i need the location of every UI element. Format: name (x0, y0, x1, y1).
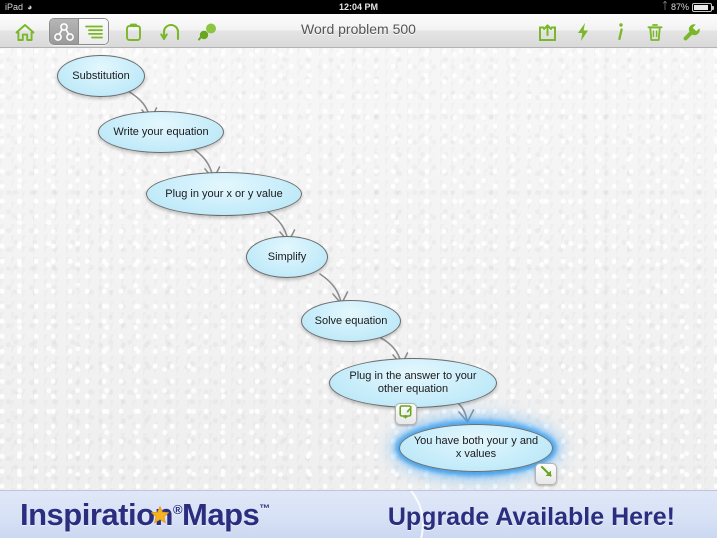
status-bar: iPad ◕ 12:04 PM ᛏ 87% (0, 0, 717, 14)
lightning-icon[interactable] (570, 20, 596, 44)
upgrade-cta-text[interactable]: Upgrade Available Here! (388, 503, 675, 532)
create-link-handle[interactable] (535, 463, 557, 485)
trademark-mark: ™ (259, 503, 270, 515)
diagonal-arrow-icon (539, 464, 554, 484)
registered-mark: ® (173, 502, 182, 517)
connector-layer: .conn { fill:none; stroke:#8e8e8e; strok… (0, 48, 717, 490)
trash-icon[interactable] (642, 20, 668, 44)
node-substitution[interactable]: Substitution (57, 55, 145, 97)
status-bar-right: ᛏ 87% (662, 0, 712, 14)
node-plug-in-x-or-y-value[interactable]: Plug in your x or y value (146, 172, 302, 216)
upgrade-banner[interactable]: Inspiration®Maps™ Upgrade Available Here… (0, 490, 717, 538)
note-edit-icon (399, 404, 414, 424)
node-write-your-equation[interactable]: Write your equation (98, 111, 224, 153)
node-solve-equation[interactable]: Solve equation (301, 300, 401, 342)
brand-name-secondary: Maps (182, 497, 259, 532)
node-you-have-both-values[interactable]: You have both your y and x values (399, 424, 553, 472)
battery-icon (692, 3, 712, 12)
note-edit-handle[interactable] (395, 403, 417, 425)
info-icon[interactable] (607, 20, 633, 44)
wrench-icon[interactable] (678, 20, 704, 44)
node-plug-in-answer[interactable]: Plug in the answer to your other equatio… (329, 358, 497, 408)
diagram-canvas[interactable]: .conn { fill:none; stroke:#8e8e8e; strok… (0, 48, 717, 490)
node-simplify[interactable]: Simplify (246, 236, 328, 278)
toolbar: Word problem 500 (0, 14, 717, 48)
app-root: iPad ◕ 12:04 PM ᛏ 87% (0, 0, 717, 538)
brand-logo: Inspiration®Maps™ (20, 497, 270, 533)
bluetooth-icon: ᛏ (662, 0, 668, 14)
battery-percent-label: 87% (671, 0, 689, 14)
share-icon[interactable] (534, 20, 560, 44)
status-bar-time: 12:04 PM (0, 0, 717, 14)
